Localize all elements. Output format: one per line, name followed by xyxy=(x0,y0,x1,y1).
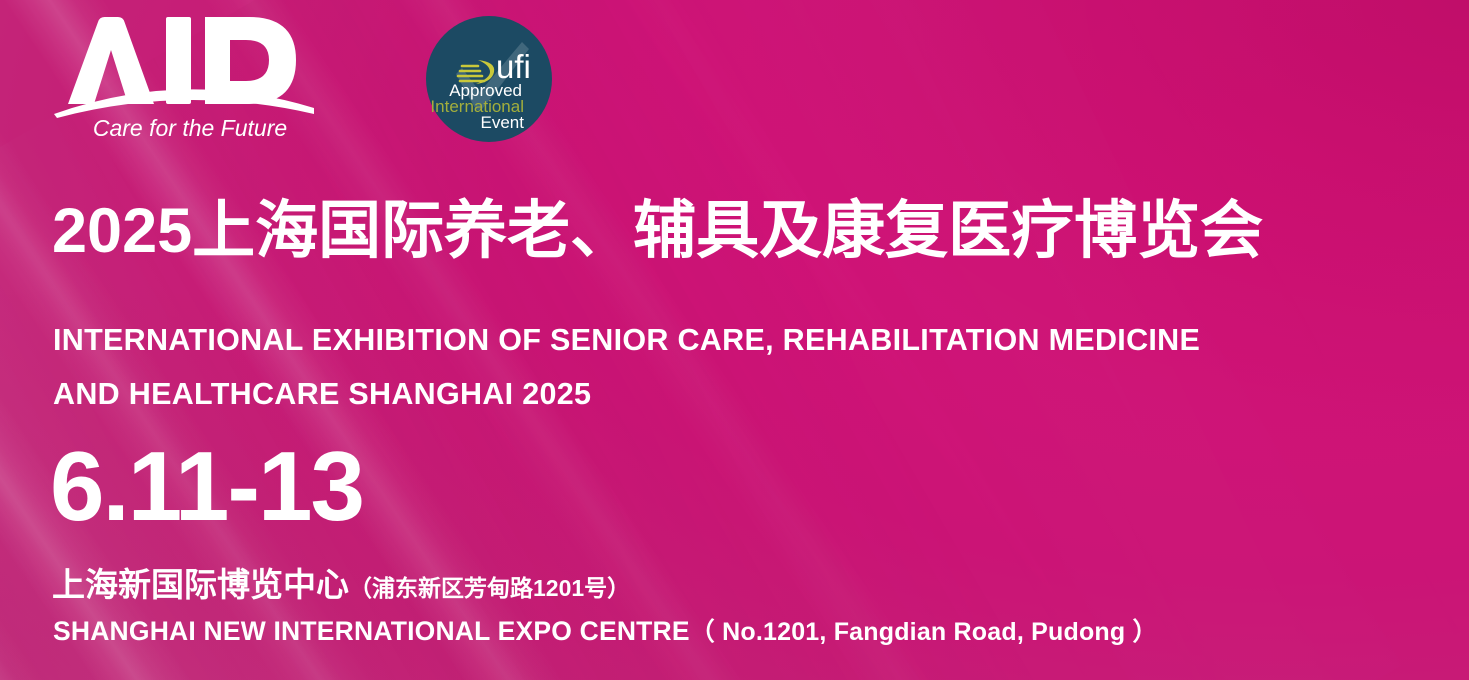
venue-chinese: 上海新国际博览中心（浦东新区芳甸路1201号） xyxy=(52,568,630,601)
ufi-wordmark: ufi xyxy=(496,48,531,85)
aid-logo: Care for the Future xyxy=(50,8,318,136)
logo-row: Care for the Future ufi Ap xyxy=(50,8,552,142)
ufi-approved-international-event-badge: ufi Approved International Event xyxy=(426,16,552,142)
title-chinese: 2025上海国际养老、辅具及康复医疗博览会 xyxy=(52,200,1263,263)
venue-chinese-address: （浦东新区芳甸路1201号） xyxy=(349,575,630,601)
venue-english: SHANGHAI NEW INTERNATIONAL EXPO CENTRE（ … xyxy=(53,618,1158,645)
venue-english-name: SHANGHAI NEW INTERNATIONAL EXPO CENTRE xyxy=(53,616,690,646)
title-english-line-2: AND HEALTHCARE SHANGHAI 2025 xyxy=(53,367,1200,421)
title-english: INTERNATIONAL EXHIBITION OF SENIOR CARE,… xyxy=(53,313,1200,422)
exhibition-banner: Care for the Future ufi Ap xyxy=(0,0,1469,680)
aid-tagline: Care for the Future xyxy=(93,115,287,136)
event-date: 6.11-13 xyxy=(50,437,363,535)
venue-chinese-name: 上海新国际博览中心 xyxy=(52,566,349,603)
venue-english-address: （ No.1201, Fangdian Road, Pudong ） xyxy=(690,618,1158,646)
banner-content: Care for the Future ufi Ap xyxy=(0,0,1469,680)
title-english-line-1: INTERNATIONAL EXHIBITION OF SENIOR CARE,… xyxy=(53,313,1200,367)
ufi-event-label: Event xyxy=(481,113,525,132)
